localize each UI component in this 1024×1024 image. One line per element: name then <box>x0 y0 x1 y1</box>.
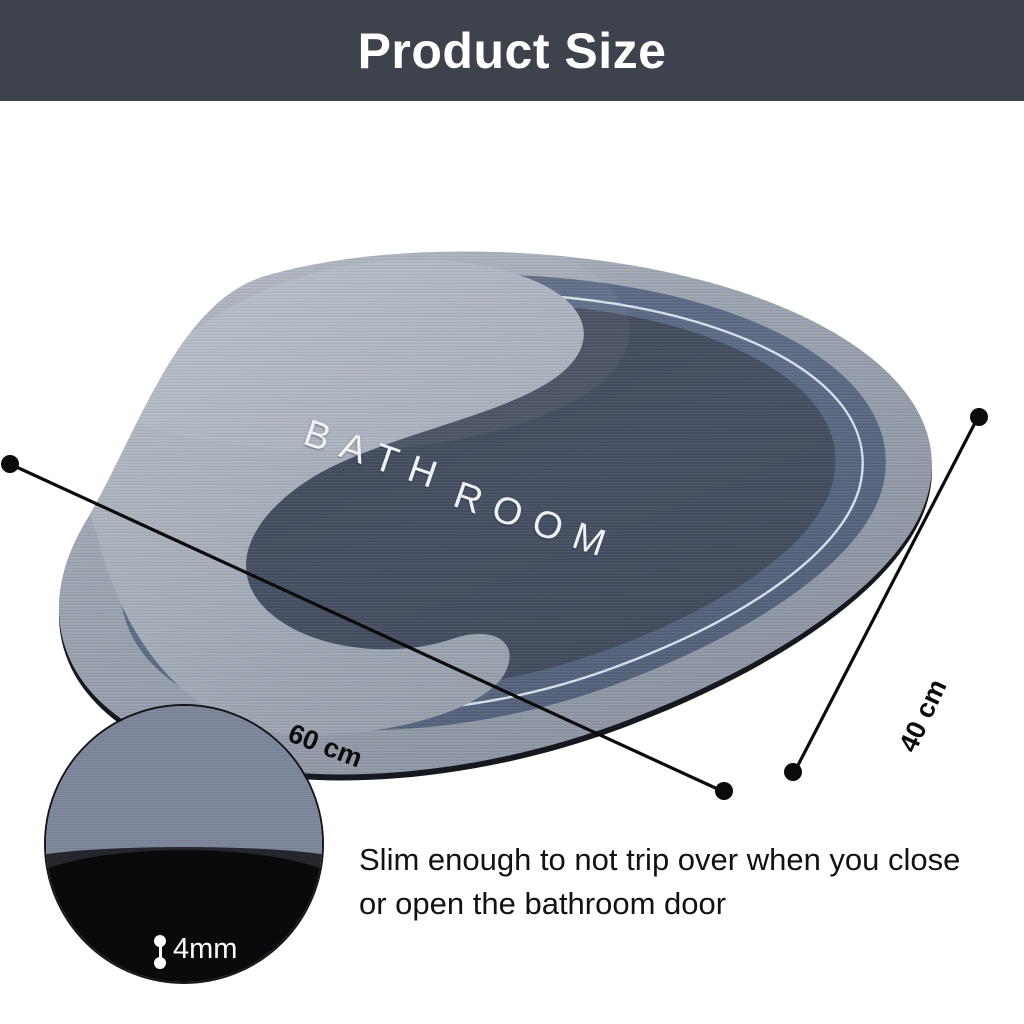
thickness-detail-callout: 4mm <box>44 704 324 984</box>
thickness-dot-bottom <box>154 957 166 969</box>
thickness-measure-icon <box>154 935 166 969</box>
dimension-dot-length-start <box>1 455 19 473</box>
thickness-value-label: 4mm <box>173 935 237 964</box>
dimension-line-width <box>795 419 977 771</box>
header-banner: Product Size <box>0 0 1024 101</box>
page-title: Product Size <box>358 26 667 76</box>
product-caption: Slim enough to not trip over when you cl… <box>359 838 984 926</box>
dimension-dot-width-start <box>970 408 988 426</box>
dimension-dot-length-end <box>715 782 733 800</box>
main-stage: BATH ROOM 60 cm 40 cm 4mm Slim enough to… <box>0 101 1024 1024</box>
dimension-dot-width-end <box>784 763 802 781</box>
